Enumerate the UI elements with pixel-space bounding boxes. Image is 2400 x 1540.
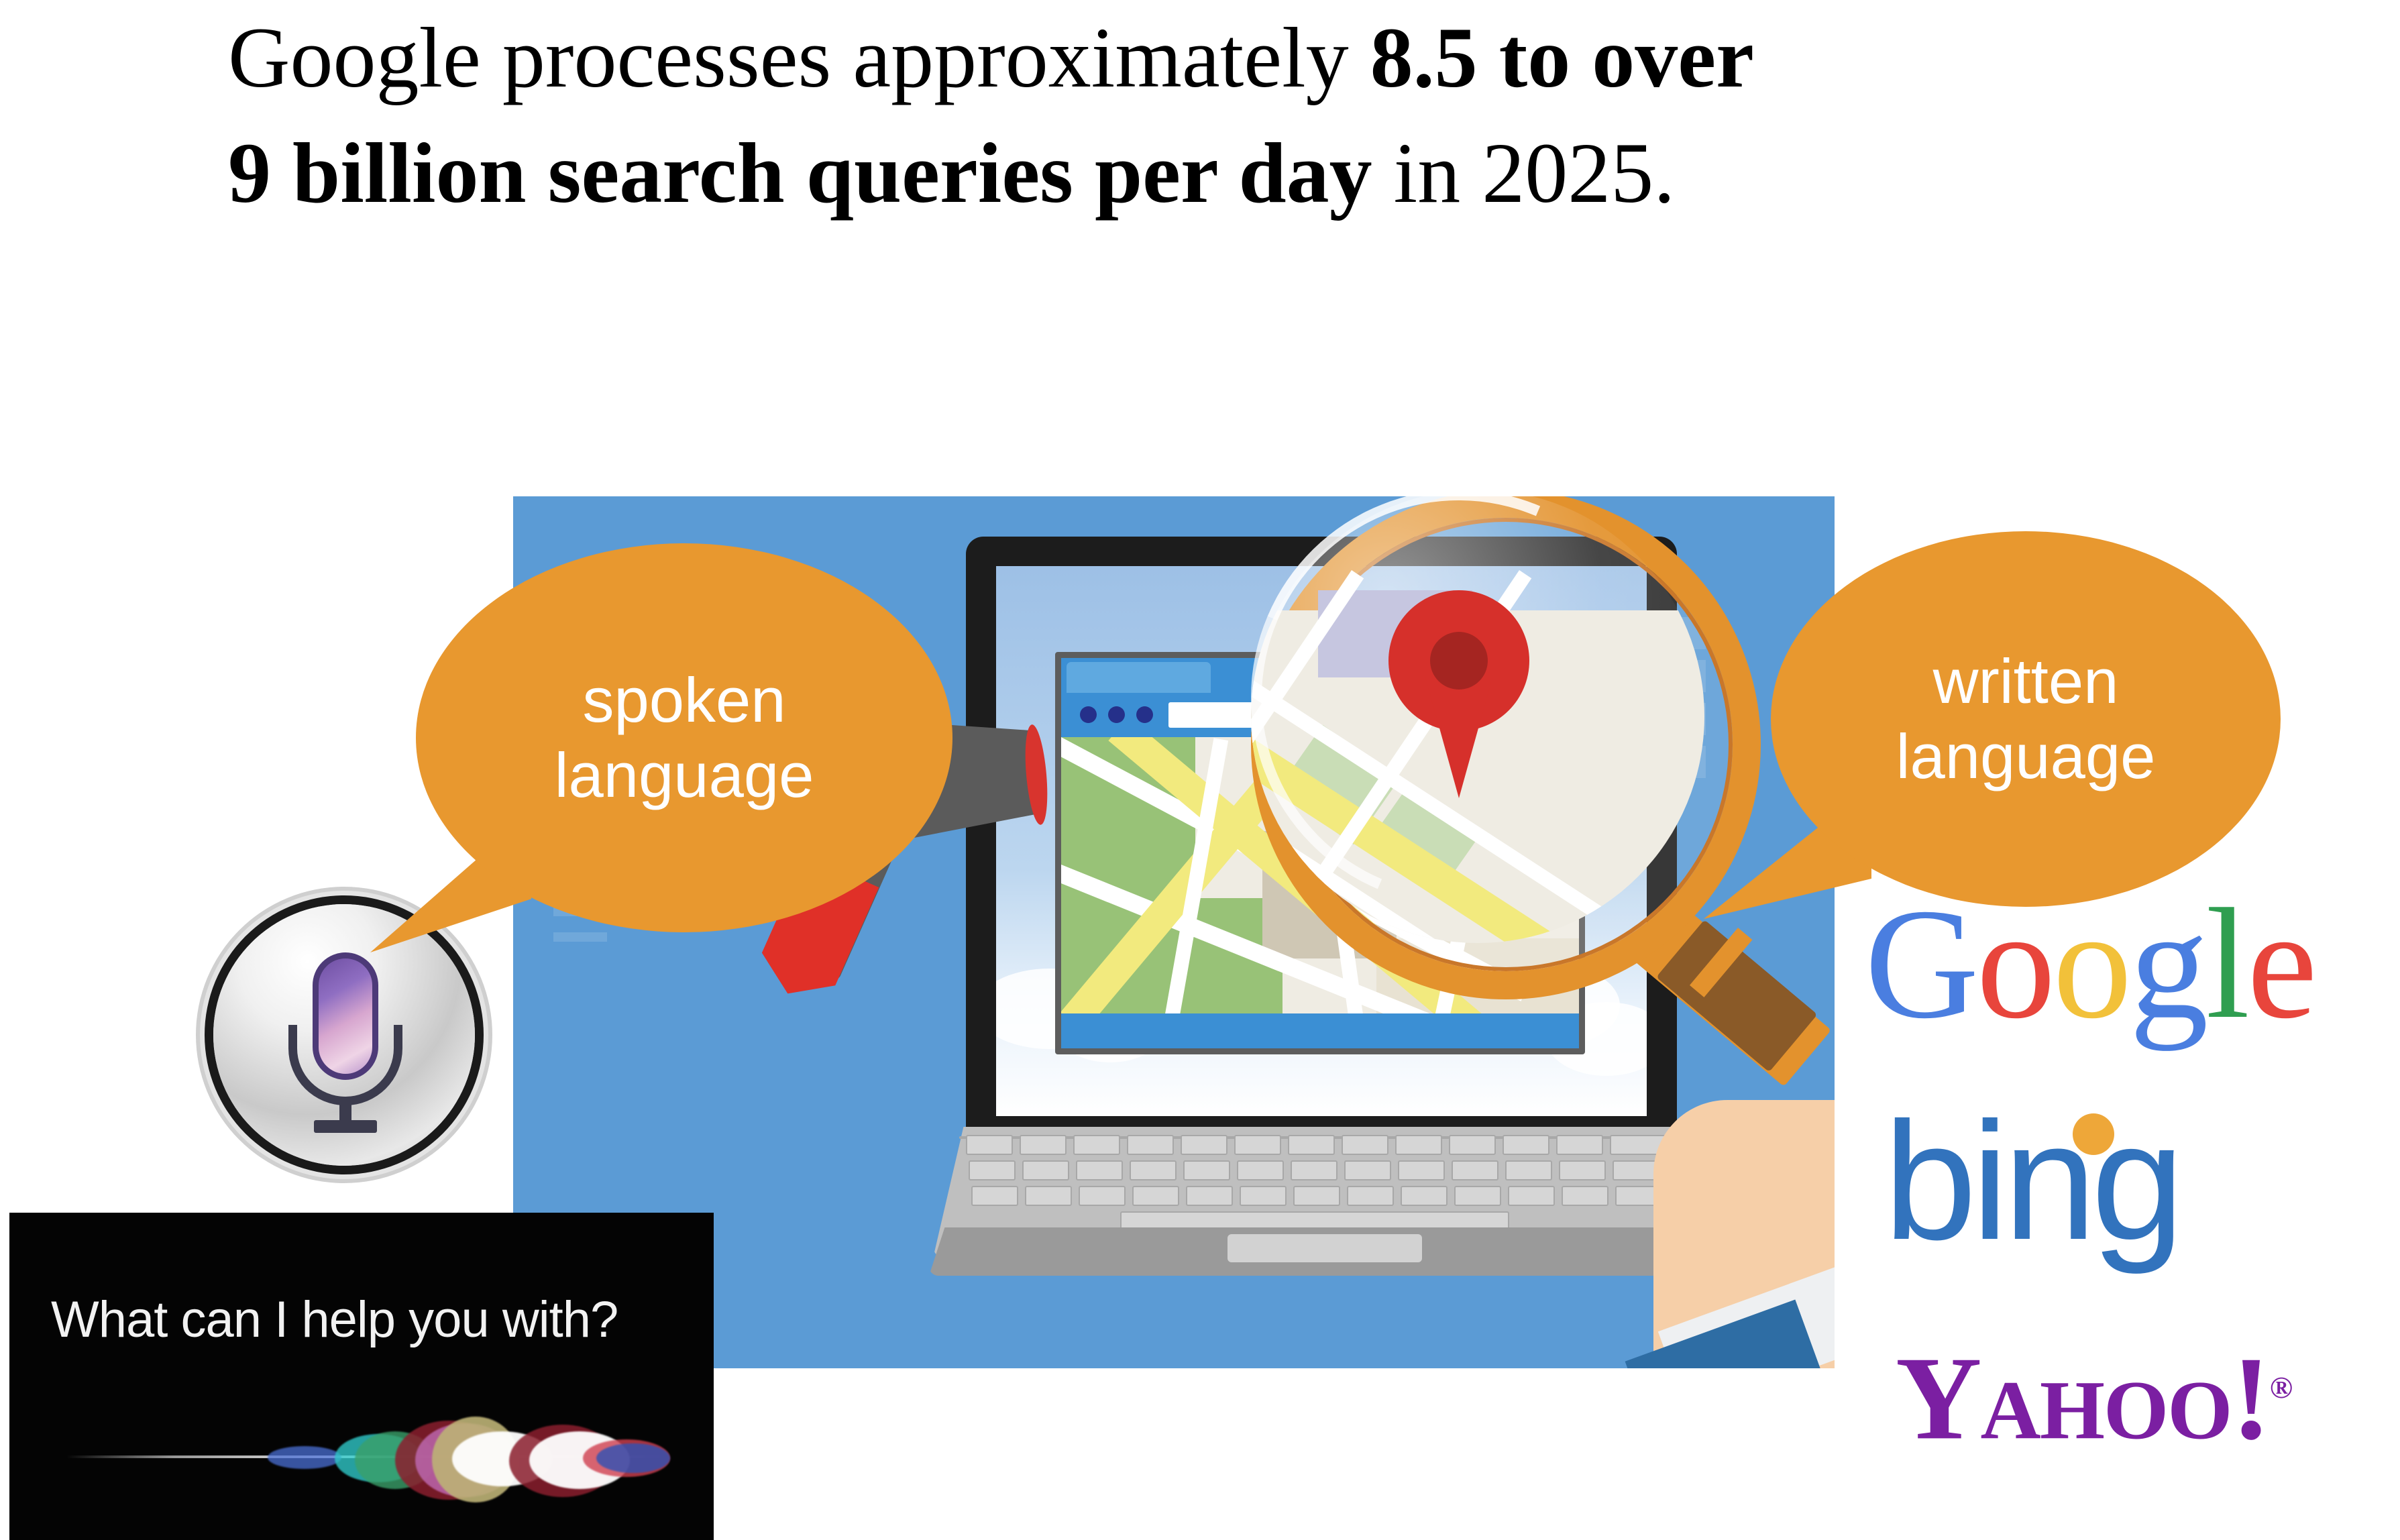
speech-bubble-written: written language [1771, 531, 2281, 907]
page-title: Google processes approximately 8.5 to ov… [228, 0, 2307, 241]
bubble-written-line1: written [1896, 644, 2156, 719]
google-logo-letter: o [1976, 877, 2053, 1052]
yahoo-logo-text: Yahoo [1896, 1331, 2232, 1464]
siri-prompt-text: What can I help you with? [51, 1290, 675, 1349]
microphone-glyph [288, 952, 402, 1120]
google-logo-letter: o [2053, 877, 2129, 1052]
siri-microphone-icon[interactable] [213, 904, 475, 1166]
bubble-written-line2: language [1896, 719, 2156, 794]
bing-dot-icon [2073, 1113, 2114, 1155]
siri-waveform [66, 1414, 663, 1501]
magnifier-ring [1251, 496, 1761, 999]
magnifying-glass [1251, 496, 1814, 1093]
browser-dot-icon [1080, 706, 1097, 723]
siri-screen: What can I help you with? [9, 1213, 714, 1540]
bubble-spoken-line1: spoken [555, 663, 814, 738]
google-logo-letter: e [2247, 877, 2315, 1052]
headline-segment-plain: Google processes approximately [228, 10, 1370, 105]
laptop-trackpad[interactable] [1228, 1234, 1422, 1262]
google-logo-letter: G [1865, 877, 1976, 1052]
headline-segment-bold: 8.5 to over [1370, 10, 1754, 105]
browser-tab[interactable] [1067, 662, 1211, 693]
google-logo[interactable]: Google [1865, 885, 2315, 1044]
headline-segment-bold-2: 9 billion search queries per day [228, 125, 1372, 221]
yahoo-logo-exclamation: ! [2232, 1331, 2270, 1464]
yahoo-logo[interactable]: Yahoo!® [1896, 1328, 2291, 1457]
search-engine-logos: Google bing Yahoo!® [1851, 885, 2400, 1529]
illustration-canvas: What can I help you with? spoken languag… [0, 255, 2400, 1368]
browser-dot-icon [1108, 706, 1125, 723]
hand-holding-magnifier [1653, 1073, 1835, 1362]
browser-dot-icon [1136, 706, 1153, 723]
google-logo-letter: l [2205, 877, 2247, 1052]
bubble-spoken-line2: language [555, 738, 814, 813]
bing-logo[interactable]: bing [1884, 1097, 2179, 1265]
headline-segment-plain-2: in 2025. [1372, 125, 1676, 221]
laptop-keyboard[interactable] [959, 1131, 1684, 1231]
registered-trademark-icon: ® [2270, 1370, 2291, 1405]
google-logo-letter: g [2129, 877, 2205, 1052]
speech-bubble-spoken: spoken language [416, 543, 952, 932]
